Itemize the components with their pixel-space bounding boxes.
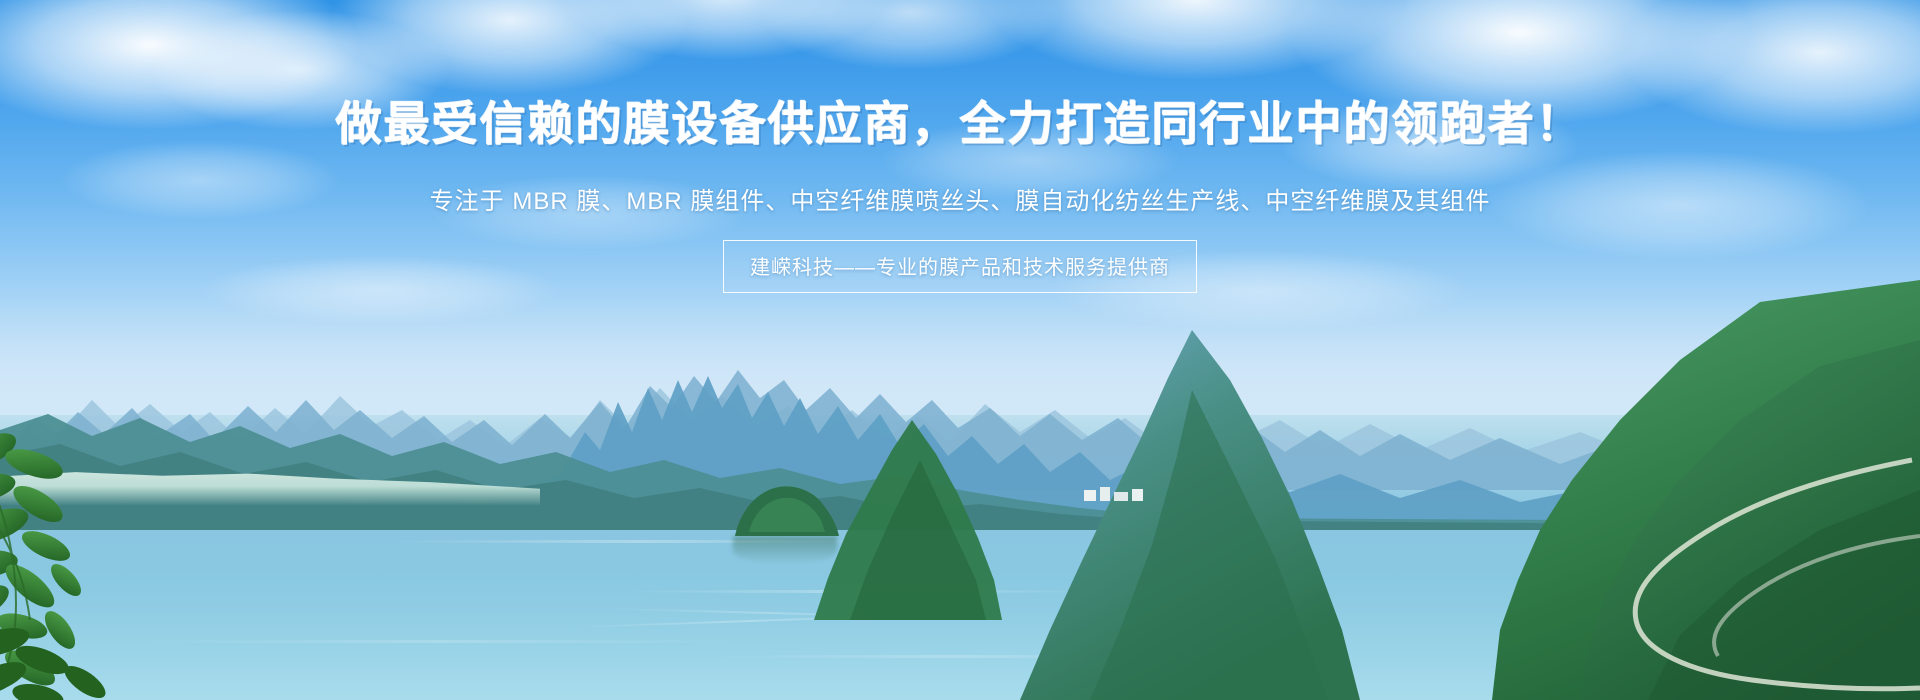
hero-banner: 做最受信赖的膜设备供应商，全力打造同行业中的领跑者！ 专注于 MBR 膜、MBR… bbox=[0, 0, 1920, 700]
banner-tagline-box: 建嵘科技——专业的膜产品和技术服务提供商 bbox=[723, 240, 1197, 293]
banner-subheadline: 专注于 MBR 膜、MBR 膜组件、中空纤维膜喷丝头、膜自动化纺丝生产线、中空纤… bbox=[0, 185, 1920, 219]
banner-tagline-wrapper: 建嵘科技——专业的膜产品和技术服务提供商 bbox=[0, 240, 1920, 293]
banner-copy: 做最受信赖的膜设备供应商，全力打造同行业中的领跑者！ 专注于 MBR 膜、MBR… bbox=[0, 0, 1920, 700]
banner-headline: 做最受信赖的膜设备供应商，全力打造同行业中的领跑者！ bbox=[0, 98, 1920, 151]
